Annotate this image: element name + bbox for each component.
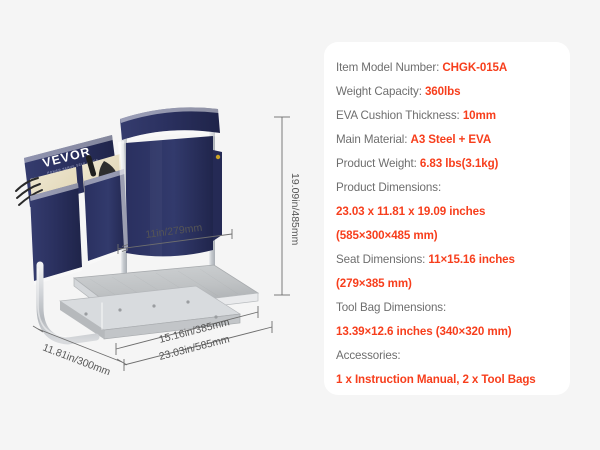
spec-label: Seat Dimensions: <box>336 253 425 266</box>
backrest-assembly <box>120 107 222 283</box>
spec-value: (585×300×485 mm) <box>336 224 438 248</box>
spec-row-product-dimensions: Product Dimensions: <box>336 176 560 200</box>
spec-label: Item Model Number: <box>336 61 439 74</box>
spec-label: Tool Bag Dimensions: <box>336 301 446 314</box>
spec-value: (279×385 mm) <box>336 272 412 296</box>
dimension-label-overall-height: 19.09in/485mm <box>289 173 301 246</box>
spec-value: CHGK-015A <box>442 61 507 74</box>
spec-row-accessories-value: 1 x Instruction Manual, 2 x Tool Bags <box>336 368 560 392</box>
spec-row-product-dimensions-inches: 23.03 x 11.81 x 19.09 inches <box>336 200 560 224</box>
spec-value: 11×15.16 inches <box>428 253 515 266</box>
spec-label: Main Material: <box>336 133 407 146</box>
spec-value: 1 x Instruction Manual, 2 x Tool Bags <box>336 368 536 392</box>
spec-value: 13.39×12.6 inches (340×320 mm) <box>336 320 512 344</box>
spec-value: 360lbs <box>425 85 461 98</box>
spec-label: Weight Capacity: <box>336 85 422 98</box>
spec-row-product-weight: Product Weight: 6.83 lbs(3.1kg) <box>336 152 560 176</box>
spec-row-seat-dimensions: Seat Dimensions: 11×15.16 inches <box>336 248 560 272</box>
spec-row-tool-bag-dimensions: Tool Bag Dimensions: <box>336 296 560 320</box>
spec-value: A3 Steel + EVA <box>411 133 492 146</box>
spec-label: Product Weight: <box>336 157 417 170</box>
spec-row-tool-bag-dimensions-value: 13.39×12.6 inches (340×320 mm) <box>336 320 560 344</box>
side-pocket <box>213 150 222 241</box>
spec-value: 6.83 lbs(3.1kg) <box>420 157 498 170</box>
specification-panel: Item Model Number: CHGK-015A Weight Capa… <box>324 42 570 395</box>
spec-label: EVA Cushion Thickness: <box>336 109 460 122</box>
pocket-stud <box>216 155 220 159</box>
dimension-label-overall-depth: 11.81in/300mm <box>41 342 112 375</box>
spec-value: 23.03 x 11.81 x 19.09 inches <box>336 200 485 224</box>
dimension-overall-height <box>274 117 290 295</box>
spec-row-product-dimensions-mm: (585×300×485 mm) <box>336 224 560 248</box>
spec-label: Accessories: <box>336 349 401 362</box>
product-illustration: VEVOR POWER SERVE SELF PRICE <box>0 95 320 375</box>
spec-row-eva-cushion-thickness: EVA Cushion Thickness: 10mm <box>336 104 560 128</box>
spec-value: 10mm <box>463 109 496 122</box>
spec-label: Product Dimensions: <box>336 181 441 194</box>
product-spec-image: VEVOR POWER SERVE SELF PRICE <box>0 0 600 450</box>
spec-row-weight-capacity: Weight Capacity: 360lbs <box>336 80 560 104</box>
spec-row-main-material: Main Material: A3 Steel + EVA <box>336 128 560 152</box>
spec-row-item-model-number: Item Model Number: CHGK-015A <box>336 56 560 80</box>
spec-row-accessories: Accessories: <box>336 344 560 368</box>
tool-bag: VEVOR POWER SERVE SELF PRICE <box>16 135 128 285</box>
spec-row-seat-dimensions-mm: (279×385 mm) <box>336 272 560 296</box>
